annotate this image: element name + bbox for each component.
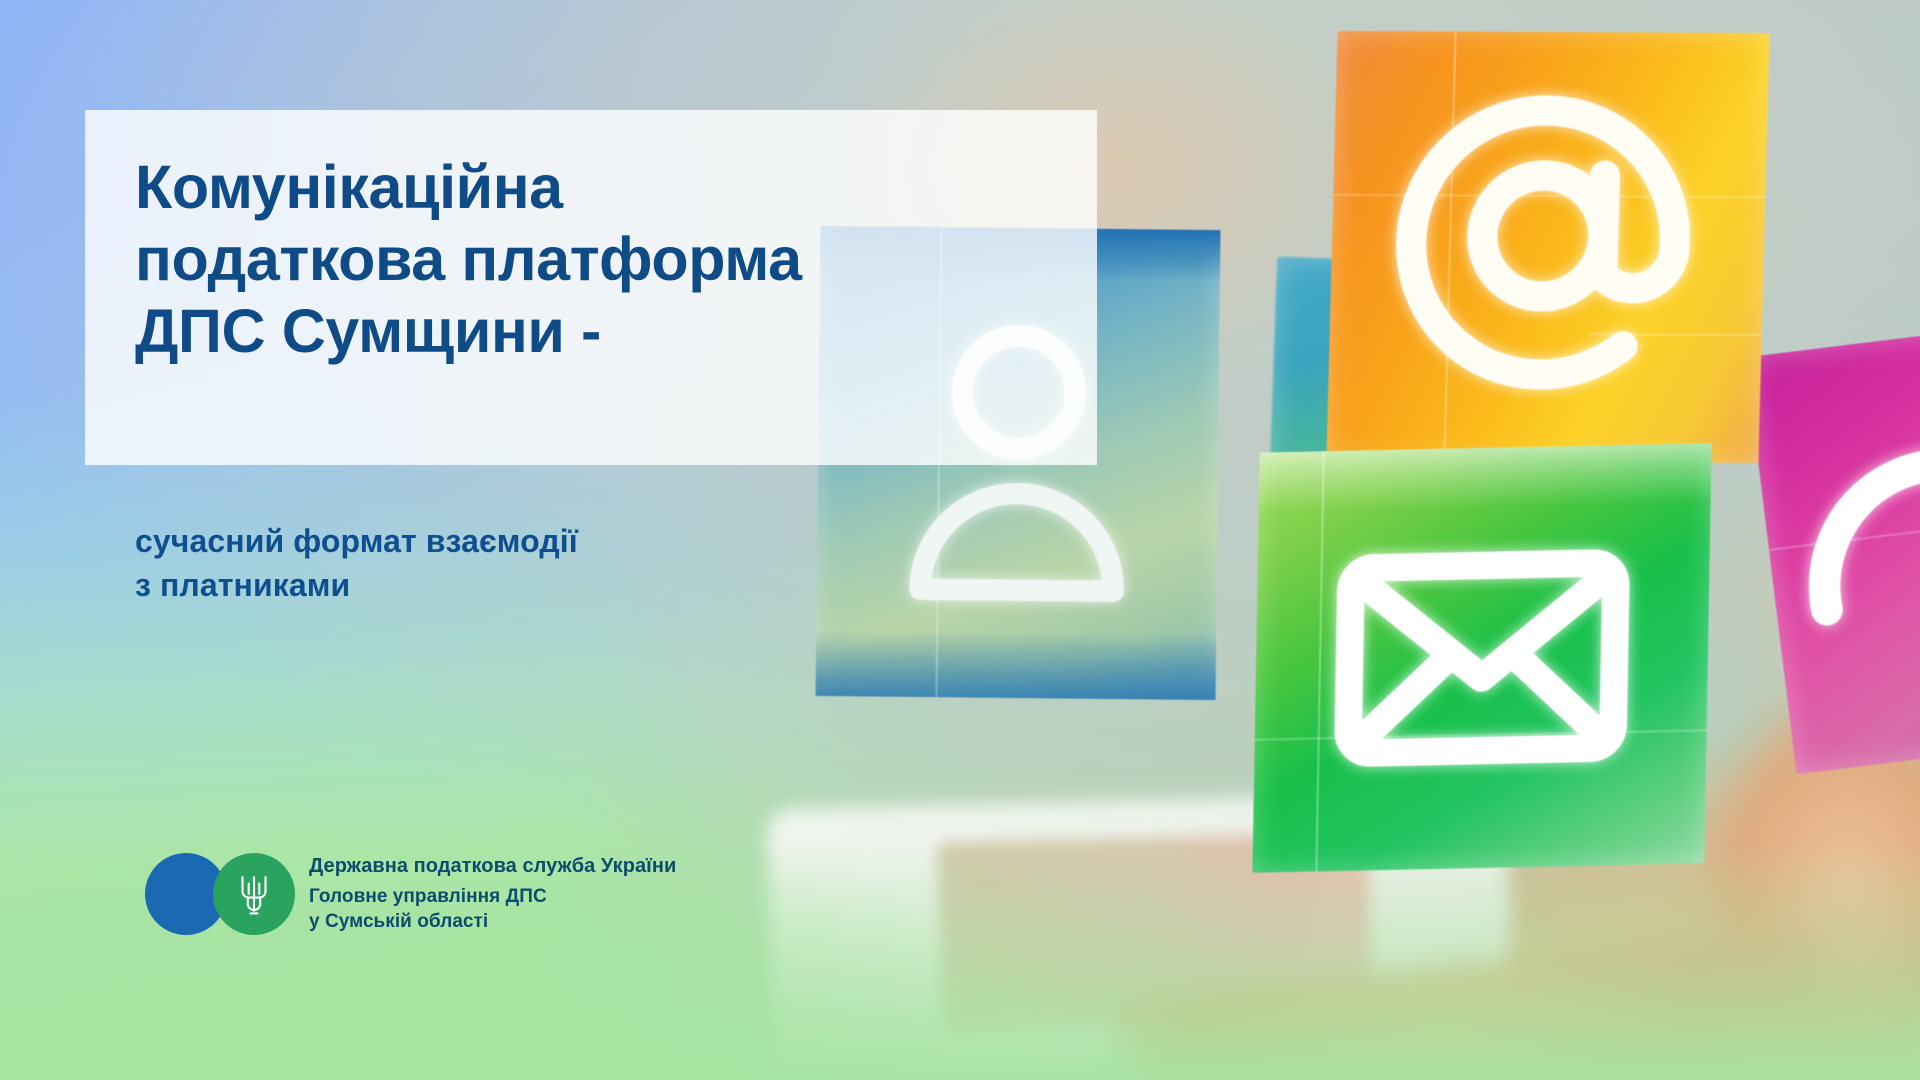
logo-marks: [145, 845, 297, 943]
envelope-icon: [1252, 443, 1711, 873]
department-name: Головне управління ДПС у Сумській област…: [309, 885, 676, 934]
logo-text-block: Державна податкова служба України Головн…: [309, 854, 676, 935]
organization-logo: Державна податкова служба України Головн…: [145, 845, 676, 943]
cube-envelope: [1252, 443, 1711, 873]
cube-at-sign: [1326, 31, 1769, 463]
trident-icon: [236, 871, 272, 917]
page-title: Комунікаційна податкова платформа ДПС Су…: [135, 152, 1095, 368]
green-circle-icon: [213, 853, 295, 935]
poster-canvas: Комунікаційна податкова платформа ДПС Су…: [0, 0, 1920, 1080]
page-subtitle: сучасний формат взаємодії з платниками: [135, 520, 835, 607]
organization-name: Державна податкова служба України: [309, 854, 676, 880]
at-sign-icon: [1326, 31, 1769, 463]
